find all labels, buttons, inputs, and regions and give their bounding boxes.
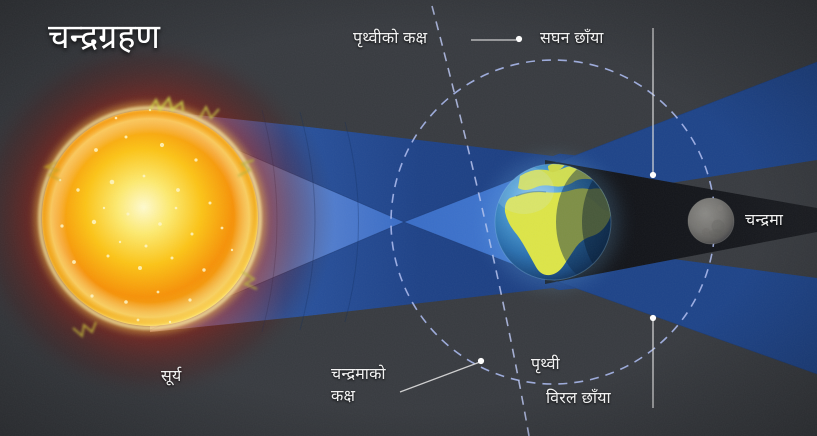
label-earth: पृथ्वी — [531, 356, 560, 374]
label-penumbra: विरल छाँया — [546, 390, 611, 408]
label-moon-orbit-line2: कक्ष — [331, 388, 355, 406]
lunar-eclipse-diagram: चन्द्रग्रहण पृथ्वीको कक्ष सघन छाँया चन्द… — [0, 0, 817, 436]
label-umbra: सघन छाँया — [540, 30, 604, 48]
diagram-canvas — [0, 0, 817, 436]
page-title: चन्द्रग्रहण — [48, 12, 160, 58]
label-sun: सूर्य — [161, 368, 182, 386]
label-moon-orbit-line1: चन्द्रमाको — [331, 366, 386, 384]
film-grain — [0, 0, 817, 436]
label-earth-orbit: पृथ्वीको कक्ष — [353, 30, 427, 48]
label-moon: चन्द्रमा — [745, 212, 783, 230]
